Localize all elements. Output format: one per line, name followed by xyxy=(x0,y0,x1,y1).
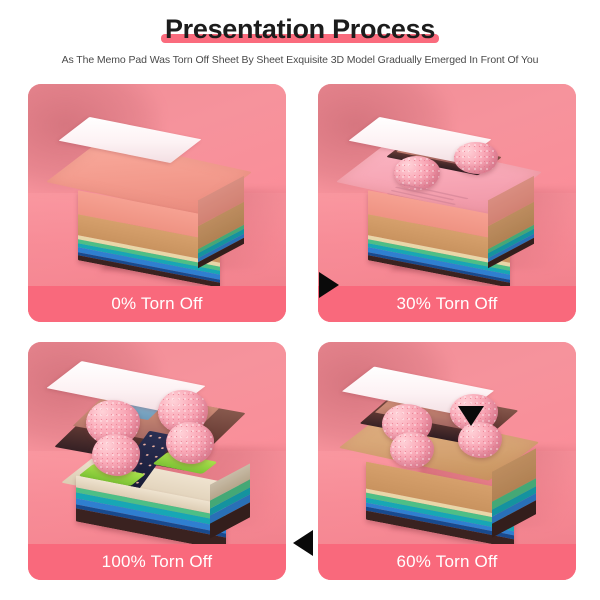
blossom-tree-right-lower xyxy=(458,422,502,458)
triangle-right-icon xyxy=(319,272,339,298)
page-title-wrap: Presentation Process xyxy=(159,12,441,46)
panel-caption-text: 30% Torn Off xyxy=(397,294,498,314)
blossom-tree-left-lower xyxy=(92,434,140,476)
page-header: Presentation Process As The Memo Pad Was… xyxy=(0,0,600,67)
memo-pad-30 xyxy=(358,112,538,280)
process-grid: 0% Torn Off xyxy=(28,84,572,580)
panel-caption-text: 60% Torn Off xyxy=(397,552,498,572)
panel-caption-text: 0% Torn Off xyxy=(111,294,202,314)
panel-caption-bar: 100% Torn Off xyxy=(28,544,286,580)
memo-pad-60 xyxy=(354,364,540,540)
blossom-tree-right-lower xyxy=(166,422,214,464)
pad-paper-layers-side xyxy=(210,463,250,538)
panel-100-percent[interactable]: 100% Torn Off xyxy=(28,342,286,580)
panel-caption-bar: 0% Torn Off xyxy=(28,286,286,322)
panel-60-percent[interactable]: 60% Torn Off xyxy=(318,342,576,580)
triangle-down-icon xyxy=(458,406,484,426)
blossom-tree-left-lower xyxy=(390,432,434,468)
memo-pad-intact xyxy=(68,112,248,280)
panel-30-percent[interactable]: 30% Torn Off xyxy=(318,84,576,322)
panel-caption-text: 100% Torn Off xyxy=(102,552,213,572)
panel-caption-bar: 60% Torn Off xyxy=(318,544,576,580)
memo-pad-diorama xyxy=(62,360,252,540)
panel-caption-bar: 30% Torn Off xyxy=(318,286,576,322)
triangle-left-icon xyxy=(293,530,313,556)
panel-0-percent[interactable]: 0% Torn Off xyxy=(28,84,286,322)
page-subtitle: As The Memo Pad Was Torn Off Sheet By Sh… xyxy=(0,53,600,67)
page-title: Presentation Process xyxy=(165,12,435,46)
blossom-tree-right xyxy=(454,142,498,174)
